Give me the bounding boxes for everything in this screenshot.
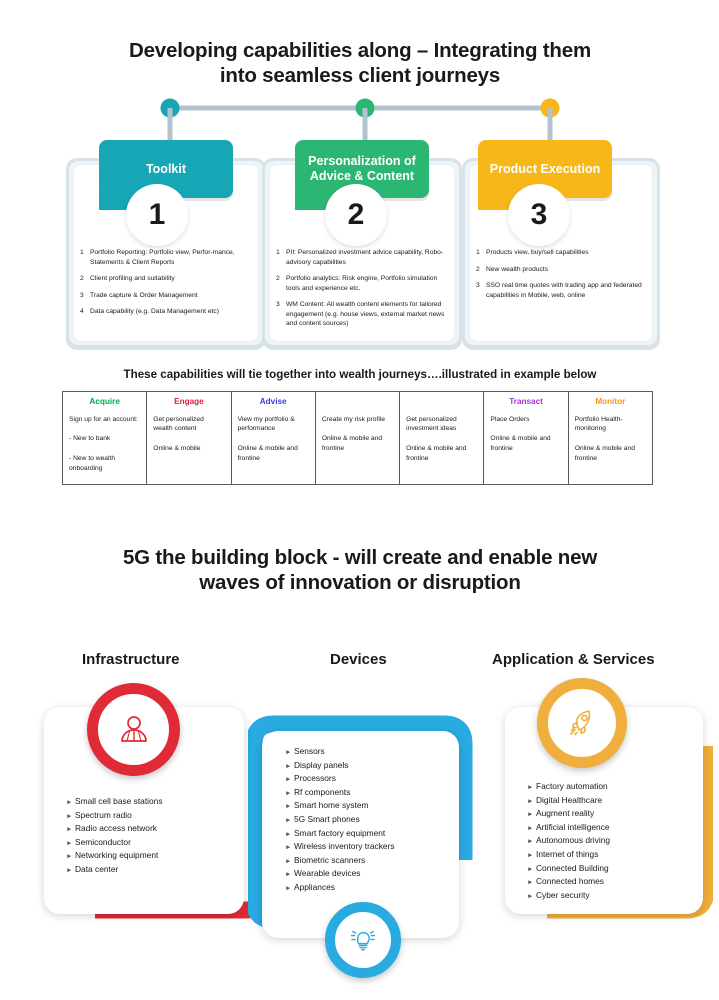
item-number: 2 [476,265,486,275]
item-label: Radio access network [75,822,157,836]
card-number: 2 [348,198,365,232]
list-item: 3 WM Content: All wealth content element… [276,300,452,329]
capability-card-toolkit[interactable]: Toolkit 1 1 Portfolio Reporting: Portfol… [66,140,266,355]
list-item: 2 Client profiling and suitability [80,274,256,284]
fiveg-title: 5G the building block - will create and … [60,545,660,595]
list-item: ►Data center [66,863,163,877]
journeys-heading: These capabilities will tie together int… [60,368,660,381]
table-header-monitor: Monitor [568,392,652,411]
list-item: 2 New wealth products [476,265,650,275]
arrow-icon: ► [527,878,536,889]
list-item: ►Wearable devices [285,867,395,881]
item-label: Spectrum radio [75,809,132,823]
card-tab-label-line2: Advice & Content [310,169,414,183]
page-title-line1: Developing capabilities along – Integrat… [60,38,660,63]
card-tab-label-line1: Personalization of [308,154,416,168]
table-cell-monitor: Portfolio Health-monitoring Online & mob… [568,411,652,485]
item-text: WM Content: All wealth content elements … [286,300,452,329]
cell-channel: Online & mobile and frontine [575,444,646,463]
arrow-icon: ► [66,852,75,863]
arrow-icon: ► [285,748,294,759]
item-number: 3 [276,300,286,329]
list-item: 3 SSO real time quotes with trading app … [476,281,650,300]
item-label: Sensors [294,745,325,759]
list-item: ►Processors [285,772,395,786]
fiveg-title-line1: 5G the building block - will create and … [60,545,660,570]
item-label: Augment reality [536,807,594,821]
table-cell-investment-ideas: Get personalized investment ideas Online… [400,411,484,485]
list-item: 2 Portfolio analytics: Risk engine, Port… [276,274,452,293]
table-header-advise: Advise [231,392,315,411]
arrow-icon: ► [66,839,75,850]
list-item: 1 Products view, buy/sell capabilities [476,248,650,258]
card-tab-label: Product Execution [490,162,600,177]
item-number: 2 [80,274,90,284]
item-number: 1 [276,248,286,267]
arrow-icon: ► [527,797,536,808]
application-services-icon-circle [537,678,627,768]
infrastructure-list: ►Small cell base stations ►Spectrum radi… [66,795,163,877]
item-text: Portfolio analytics: Risk engine, Portfo… [286,274,452,293]
list-item: ►Factory automation [527,780,610,794]
cell-channel: Online & mobile [153,444,224,454]
list-item: ►Wireless inventory trackers [285,840,395,854]
card-tab-label: Personalization of Advice & Content [308,154,416,184]
cell-channel: Online & mobile and frontine [238,444,309,463]
table-header-blank-1 [315,392,399,411]
list-item: ►Connected Building [527,862,610,876]
list-item: ►Internet of things [527,848,610,862]
item-text: SSO real time quotes with trading app an… [486,281,650,300]
column-heading-infrastructure: Infrastructure [82,651,180,668]
table-body-row: Sign up for an account: - New to bank - … [63,411,653,485]
item-label: Processors [294,772,336,786]
list-item: ►Biometric scanners [285,854,395,868]
item-label: Artificial intelligence [536,821,610,835]
item-number: 1 [80,248,90,267]
infrastructure-icon-circle [87,683,180,776]
item-label: Connected Building [536,862,609,876]
header-label: Monitor [595,397,625,406]
list-item: ►Augment reality [527,807,610,821]
item-label: Digital Healthcare [536,794,602,808]
card-number: 1 [149,198,166,232]
table-header-row: Acquire Engage Advise Transact Monitor [63,392,653,411]
item-label: Semiconductor [75,836,131,850]
item-number: 3 [476,281,486,300]
list-item: ►Connected homes [527,875,610,889]
table-cell-engage: Get personalized wealth content Online &… [147,411,231,485]
list-item: 1 PII: Personalized investment advice ca… [276,248,452,267]
cell-line: Get personalized wealth content [153,415,224,434]
table-cell-risk-profile: Create my risk profile Online & mobile a… [315,411,399,485]
list-item: 3 Trade capture & Order Management [80,291,256,301]
table-header-blank-2 [400,392,484,411]
list-item: ► Smart factory equipment [285,827,395,841]
page-title: Developing capabilities along – Integrat… [60,38,660,88]
table-header-engage: Engage [147,392,231,411]
item-label: Wireless inventory trackers [294,840,395,854]
list-item: ►Semiconductor [66,836,163,850]
arrow-icon: ► [527,837,536,848]
cell-line: View my portfolio & performance [238,415,309,434]
arrow-icon: ► [285,762,294,773]
list-item: ►Small cell base stations [66,795,163,809]
arrow-icon: ► [285,843,294,854]
item-number: 1 [476,248,486,258]
item-label: 5G Smart phones [294,813,360,827]
capability-card-product-execution[interactable]: Product Execution 3 1 Products view, buy… [462,140,660,355]
list-item: ►Appliances [285,881,395,895]
item-text: Data capability (e.g. Data Management et… [90,307,256,317]
arrow-icon: ► [66,825,75,836]
devices-list: ►Sensors ►Display panels ►Processors ►Rf… [285,745,395,895]
item-label: Cyber security [536,889,590,903]
item-label: Data center [75,863,118,877]
fiveg-section: 5G the building block - will create and … [0,510,719,1000]
arrow-icon: ► [527,865,536,876]
item-label: Networking equipment [75,849,158,863]
item-label: Rf components [294,786,350,800]
cell-line: Place Orders [490,415,561,425]
card-number-badge: 2 [325,184,387,246]
cell-channel: Online & mobile and frontine [490,434,561,453]
fiveg-title-line2: waves of innovation or disruption [60,570,660,595]
table-cell-transact: Place Orders Online & mobile and frontin… [484,411,568,485]
arrow-icon: ► [66,812,75,823]
list-item: ►Radio access network [66,822,163,836]
arrow-icon: ► [285,870,294,881]
item-label: Wearable devices [294,867,360,881]
header-label: Advise [260,397,287,406]
arrow-icon: ► [285,830,294,841]
list-item: 1 Portfolio Reporting: Portfolio view, P… [80,248,256,267]
capability-card-personalization[interactable]: Personalization of Advice & Content 2 1 … [262,140,462,355]
cell-line: Portfolio Health-monitoring [575,415,646,434]
arrow-icon: ► [66,866,75,877]
page-title-line2: into seamless client journeys [60,63,660,88]
arrow-icon: ► [527,824,536,835]
table-header-transact: Transact [484,392,568,411]
header-label: Engage [174,397,204,406]
cell-channel: Online & mobile and frontine [406,444,477,463]
item-text: PII: Personalized investment advice capa… [286,248,452,267]
list-item: ►Spectrum radio [66,809,163,823]
card-number: 3 [531,198,548,232]
rocket-icon [565,706,599,740]
cell-line: Sign up for an account: [69,415,140,425]
card-number-badge: 1 [126,184,188,246]
column-heading-application-services: Application & Services [492,651,655,668]
item-label: Factory automation [536,780,608,794]
arrow-icon: ► [527,810,536,821]
item-text: Client profiling and suitability [90,274,256,284]
list-item: ►Sensors [285,745,395,759]
card-item-list: 1 PII: Personalized investment advice ca… [276,248,452,336]
arrow-icon: ► [66,798,75,809]
card-item-list: 1 Products view, buy/sell capabilities 2… [476,248,650,307]
list-item: ►Digital Healthcare [527,794,610,808]
item-number: 4 [80,307,90,317]
cell-channel: Online & mobile and frontine [322,434,393,453]
card-tab-label: Toolkit [146,162,186,177]
list-item: ►Smart home system [285,799,395,813]
list-item: ►Display panels [285,759,395,773]
cell-line: Get personalized investment ideas [406,415,477,434]
arrow-icon: ► [285,816,294,827]
lightbulb-icon [348,925,378,955]
arrow-icon: ► [285,884,294,895]
list-item: 4 Data capability (e.g. Data Management … [80,307,256,317]
list-item: ►Autonomous driving [527,834,610,848]
column-heading-devices: Devices [330,651,387,668]
item-text: Products view, buy/sell capabilities [486,248,650,258]
list-item: ►Rf components [285,786,395,800]
header-label: Transact [509,397,543,406]
item-label: Display panels [294,759,348,773]
item-label: Internet of things [536,848,598,862]
item-label: Connected homes [536,875,604,889]
item-label: Small cell base stations [75,795,163,809]
cell-line: - New to bank [69,434,140,444]
card-number-badge: 3 [508,184,570,246]
arrow-icon: ► [527,892,536,903]
application-services-list: ►Factory automation ►Digital Healthcare … [527,780,610,902]
list-item: ►Cyber security [527,889,610,903]
capabilities-section: Developing capabilities along – Integrat… [0,0,719,510]
table-header-acquire: Acquire [63,392,147,411]
list-item: ►5G Smart phones [285,813,395,827]
item-text: Portfolio Reporting: Portfolio view, Per… [90,248,256,267]
item-text: New wealth products [486,265,650,275]
item-label: Biometric scanners [294,854,365,868]
header-label: Acquire [89,397,119,406]
cell-line: - New to wealth onboarding [69,454,140,473]
table-cell-advise: View my portfolio & performance Online &… [231,411,315,485]
arrow-icon: ► [285,775,294,786]
arrow-icon: ► [285,802,294,813]
table-cell-acquire: Sign up for an account: - New to bank - … [63,411,147,485]
arrow-icon: ► [285,857,294,868]
arrow-icon: ► [527,851,536,862]
item-label: Smart factory equipment [294,827,385,841]
item-label: Autonomous driving [536,834,610,848]
item-number: 3 [80,291,90,301]
arrow-icon: ► [527,783,536,794]
devices-icon-circle [325,902,401,978]
item-label: Smart home system [294,799,368,813]
journeys-table: Acquire Engage Advise Transact Monitor S… [62,391,653,485]
list-item: ►Networking equipment [66,849,163,863]
item-label: Appliances [294,881,335,895]
list-item: ►Artificial intelligence [527,821,610,835]
item-number: 2 [276,274,286,293]
item-text: Trade capture & Order Management [90,291,256,301]
cell-line: Create my risk profile [322,415,393,425]
arrow-icon: ► [285,789,294,800]
card-item-list: 1 Portfolio Reporting: Portfolio view, P… [80,248,256,324]
user-icon [117,713,151,747]
